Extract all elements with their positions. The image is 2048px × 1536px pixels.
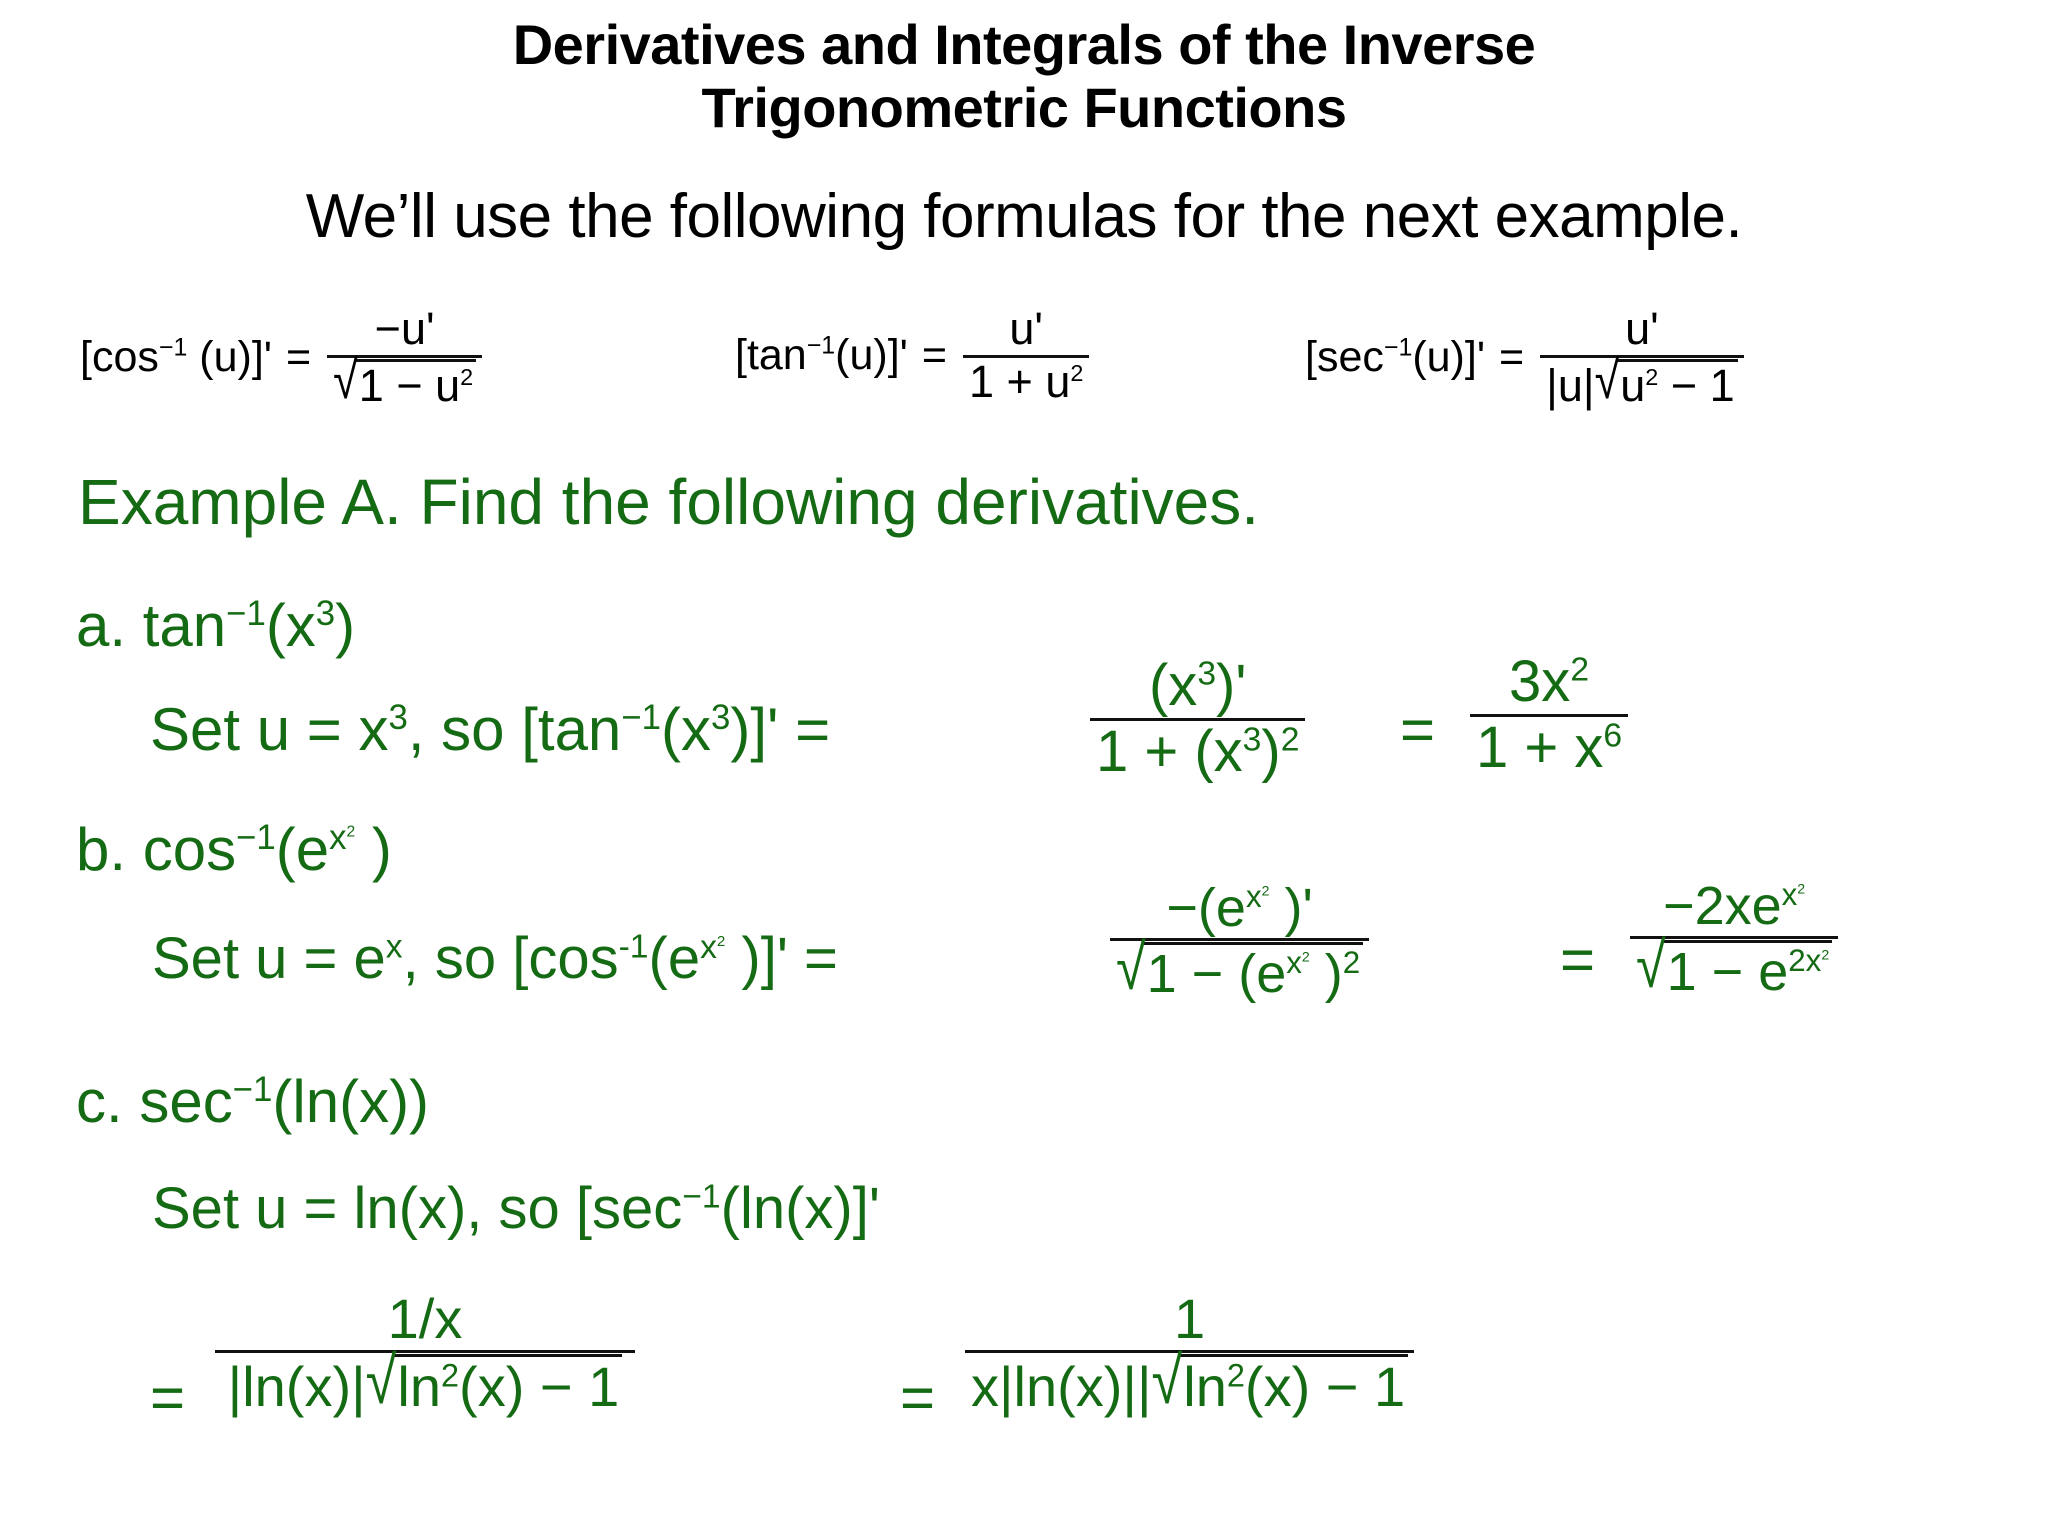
fraction-denominator: 1 + (x3)2	[1090, 722, 1305, 782]
radical: √u2 − 1	[1595, 359, 1738, 410]
example-part-c-equals-1: =	[150, 1368, 185, 1428]
fraction-bar	[1110, 938, 1369, 941]
fraction-bar	[215, 1350, 635, 1353]
radical-sign-icon: √	[1595, 353, 1620, 408]
slide-title-line-1: Derivatives and Integrals of the Inverse	[513, 13, 1536, 76]
formula-arccos-numerator: −u'	[327, 306, 482, 353]
formula-arctan-denominator: 1 + u2	[963, 359, 1089, 406]
radical-sign-icon: √	[1116, 935, 1146, 1001]
formula-arccos-denominator: √1 − u2	[327, 359, 482, 410]
example-part-b-fraction-1: −(ex2 )' √1 − (ex2 )2	[1110, 880, 1369, 1002]
fraction-denominator: √1 − e2x2	[1630, 940, 1838, 1000]
example-part-b-equals: =	[1560, 930, 1595, 990]
fraction-numerator: −2xex2	[1630, 878, 1838, 934]
formula-arctan-equals: =	[922, 331, 947, 380]
example-part-c-label: c. sec−1(ln(x))	[76, 1072, 429, 1132]
radicand: u2 − 1	[1617, 359, 1737, 410]
fraction-bar	[1540, 355, 1743, 358]
formula-arctan-lhs: [tan−1(u)]'	[735, 331, 908, 380]
fraction-numerator: −(ex2 )'	[1110, 880, 1369, 936]
example-part-b-work: Set u = ex, so [cos-1(ex2 )]' =	[152, 930, 838, 988]
radical-sign-icon: √	[1152, 1347, 1183, 1416]
radical-sign-icon: √	[333, 353, 358, 408]
fraction-denominator: x|ln(x)||√ln2(x) − 1	[965, 1354, 1414, 1416]
fraction-numerator: 1/x	[215, 1290, 635, 1348]
formula-arccos-derivative: [cos−1 (u)]' = −u' √1 − u2	[80, 306, 482, 410]
formula-arcsec-equals: =	[1499, 333, 1524, 382]
fraction-numerator: (x3)'	[1090, 656, 1305, 716]
fraction-denominator: 1 + x6	[1470, 718, 1628, 778]
radicand: ln2(x) − 1	[394, 1354, 622, 1416]
formula-arccos-equals: =	[286, 333, 311, 382]
formula-arctan-numerator: u'	[963, 306, 1089, 353]
fraction-numerator: 3x2	[1470, 652, 1628, 712]
example-heading: Example A. Find the following derivative…	[78, 470, 1259, 534]
example-part-c-fraction-2: 1 x|ln(x)||√ln2(x) − 1	[965, 1290, 1414, 1416]
radical: √ln2(x) − 1	[1152, 1354, 1409, 1416]
fraction-bar	[965, 1350, 1414, 1353]
slide-title: Derivatives and Integrals of the Inverse…	[0, 14, 2048, 139]
example-part-b-fraction-2: −2xex2 √1 − e2x2	[1630, 878, 1838, 1000]
formula-arctan-derivative: [tan−1(u)]' = u' 1 + u2	[735, 306, 1089, 406]
slide-title-line-2: Trigonometric Functions	[0, 77, 2048, 140]
radicand: ln2(x) − 1	[1180, 1354, 1408, 1416]
example-part-b-label: b. cos−1(ex2 )	[76, 820, 392, 880]
example-part-c-equals-2: =	[900, 1368, 935, 1428]
formula-arcsec-derivative: [sec−1(u)]' = u' |u|√u2 − 1	[1305, 306, 1744, 410]
example-part-c-work: Set u = ln(x), so [sec−1(ln(x)]'	[152, 1180, 880, 1238]
fraction-denominator: |ln(x)|√ln2(x) − 1	[215, 1354, 635, 1416]
radical: √1 − (ex2 )2	[1116, 942, 1363, 1002]
radical: √1 − e2x2	[1636, 940, 1832, 1000]
example-part-a-work: Set u = x3, so [tan−1(x3)]' =	[150, 700, 830, 760]
example-part-a-label: a. tan−1(x3)	[76, 596, 355, 656]
fraction-numerator: 1	[965, 1290, 1414, 1348]
formula-arccos-lhs: [cos−1 (u)]'	[80, 333, 272, 382]
example-part-a-fraction-2: 3x2 1 + x6	[1470, 652, 1628, 779]
formula-arcsec-denominator: |u|√u2 − 1	[1540, 359, 1743, 410]
radical-sign-icon: √	[1636, 933, 1666, 999]
radical: √1 − u2	[333, 359, 476, 410]
formula-row: [cos−1 (u)]' = −u' √1 − u2 [tan−1(u)]' =…	[0, 296, 2048, 446]
radicand: 1 − (ex2 )2	[1144, 942, 1364, 1002]
fraction-denominator: √1 − (ex2 )2	[1110, 942, 1369, 1002]
example-part-c-fraction-1: 1/x |ln(x)|√ln2(x) − 1	[215, 1290, 635, 1416]
example-part-a-fraction-1: (x3)' 1 + (x3)2	[1090, 656, 1305, 783]
radicand: 1 − e2x2	[1664, 940, 1833, 1000]
formula-arcsec-numerator: u'	[1540, 306, 1743, 353]
slide-subtitle: We’ll use the following formulas for the…	[0, 186, 2048, 248]
formula-arcsec-lhs: [sec−1(u)]'	[1305, 333, 1485, 382]
formula-arccos-fraction: −u' √1 − u2	[327, 306, 482, 410]
formula-arcsec-fraction: u' |u|√u2 − 1	[1540, 306, 1743, 410]
radical-sign-icon: √	[366, 1347, 397, 1416]
example-part-a-equals: =	[1400, 700, 1435, 760]
radicand: 1 − u2	[356, 359, 476, 410]
formula-arctan-fraction: u' 1 + u2	[963, 306, 1089, 406]
radical: √ln2(x) − 1	[366, 1354, 623, 1416]
